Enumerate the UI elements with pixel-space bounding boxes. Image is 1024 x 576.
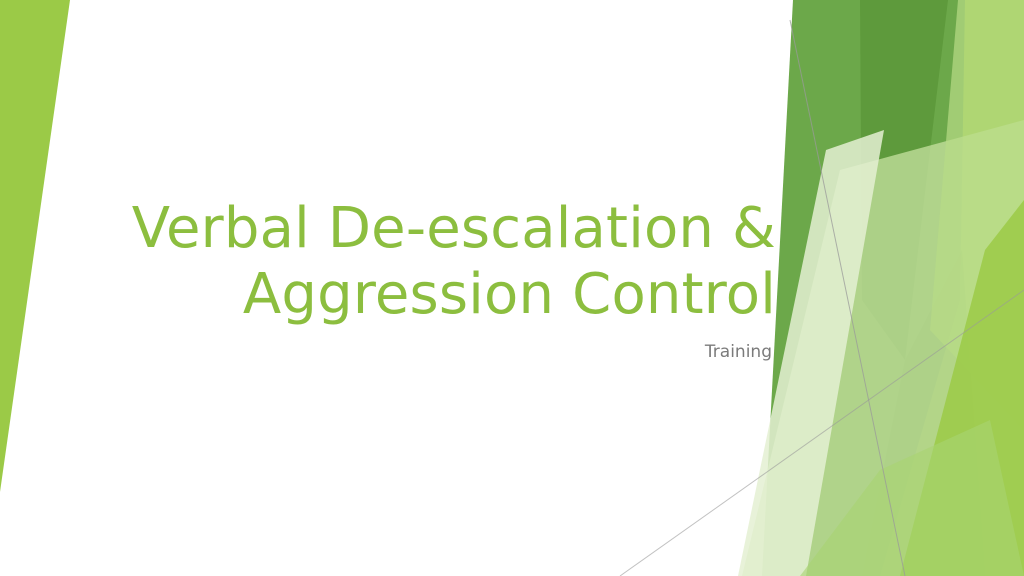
title-text-block: Verbal De-escalation & Aggression Contro… — [60, 196, 776, 363]
light-green-wedge-upper — [930, 0, 1024, 430]
right-dark-green-lower-accent — [862, 250, 985, 576]
title-slide: Verbal De-escalation & Aggression Contro… — [0, 0, 1024, 576]
bright-green-lower-right — [900, 200, 1024, 576]
page-title: Verbal De-escalation & Aggression Contro… — [60, 196, 776, 328]
right-bright-green-base — [770, 0, 1024, 576]
slide-subtitle: Training — [60, 342, 772, 362]
hairline-steep — [790, 20, 905, 576]
right-dark-green-v — [860, 0, 948, 360]
light-green-bottom-accent — [800, 420, 1024, 576]
pale-green-sheet-large — [742, 120, 1024, 576]
right-mid-green-slab — [762, 0, 965, 576]
